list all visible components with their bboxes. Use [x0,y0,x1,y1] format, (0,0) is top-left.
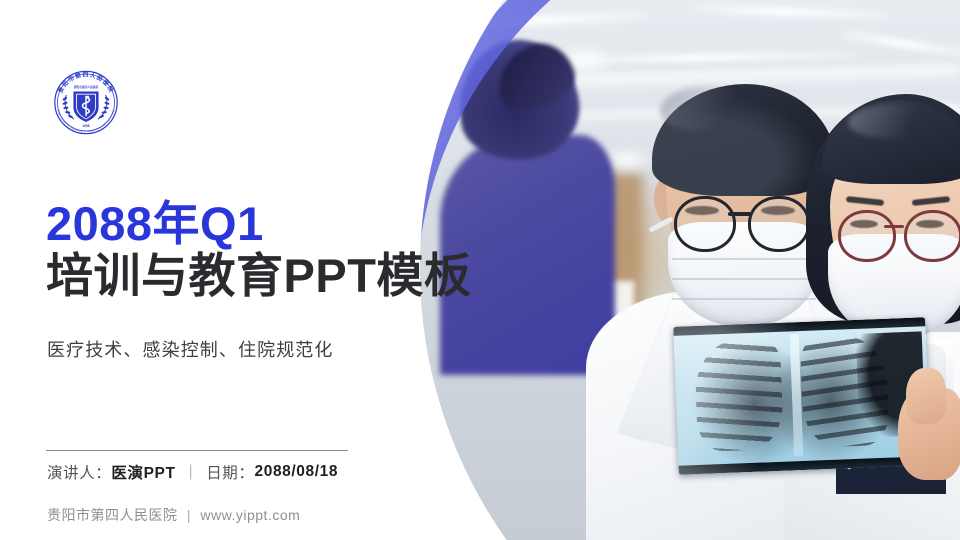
footer-organization-website: 贵阳市第四人民医院 | www.yippt.com [47,505,300,525]
male-doctor-eyeglass-left [674,196,736,252]
footer-website: www.yippt.com [200,507,300,523]
female-doctor-eyeglass-left [838,210,896,262]
meta-separator: | [189,463,194,481]
mask-fold [672,298,816,300]
speaker-label: 演讲人： [47,461,111,483]
date-value: 2088/08/18 [255,463,339,481]
female-doctor-hair-sheen [848,104,934,138]
eyeglass-bridge [884,225,904,228]
xray-film-glare [673,317,930,475]
title-block: 2088年Q1 培训与教育PPT模板 [46,199,516,302]
footer-organization: 贵阳市第四人民医院 [47,507,178,523]
male-doctor-hair-sheen [660,86,750,132]
speaker-value: 医演PPT [111,461,175,483]
svg-text:贵阳市第四人民医院: 贵阳市第四人民医院 [74,85,99,89]
subtitle: 医疗技术、感染控制、住院规范化 [47,336,334,362]
svg-text:贵阳市第四人民医院: 贵阳市第四人民医院 [56,71,116,95]
footer-divider: | [187,507,191,523]
hospital-seal-logo: 贵阳市第四人民医院 THE FOURTH PEOPLE'S HOSPITAL O… [48,61,124,141]
female-doctor-eyeglass-right [904,210,960,262]
title-year: 2088年Q1 [46,199,516,249]
mask-fold [672,278,816,280]
presentation-cover-slide: 贵阳市第四人民医院 THE FOURTH PEOPLE'S HOSPITAL O… [0,0,960,540]
mask-fold [672,258,816,260]
chest-xray-film [673,317,930,475]
fingers-holding-xray [906,368,946,424]
footer-divider-line [46,450,348,451]
date-label: 日期： [206,461,254,483]
eyeglass-bridge [728,212,752,216]
title-main: 培训与教育PPT模板 [46,249,516,303]
presenter-meta: 演讲人： 医演PPT | 日期： 2088/08/18 [47,461,338,483]
svg-text:1958: 1958 [82,124,89,128]
